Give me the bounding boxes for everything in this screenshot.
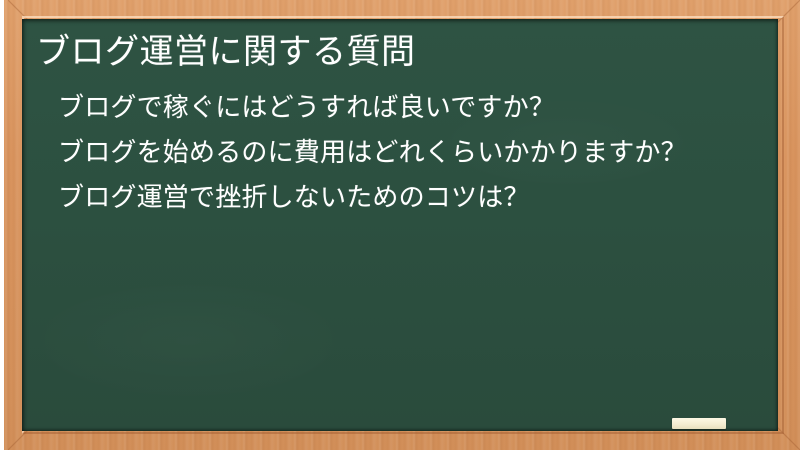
list-item: ブログ運営で挫折しないためのコツは？ (58, 177, 738, 218)
page-title: ブログ運営に関する質問 (36, 31, 760, 75)
list-item: ブログで稼ぐにはどうすれば良いですか？ (58, 87, 738, 128)
chalkboard-surface: ブログ運営に関する質問 ブログで稼ぐにはどうすれば良いですか？ ブログを始めるの… (22, 19, 778, 431)
chalk-stick-icon (672, 418, 726, 429)
chalkboard-slide: ブログ運営に関する質問 ブログで稼ぐにはどうすれば良いですか？ ブログを始めるの… (0, 0, 800, 450)
list-item: ブログを始めるのに費用はどれくらいかかりますか？ (58, 132, 738, 173)
chalkboard-content: ブログ運営に関する質問 ブログで稼ぐにはどうすれば良いですか？ ブログを始めるの… (22, 19, 778, 431)
question-list: ブログで稼ぐにはどうすれば良いですか？ ブログを始めるのに費用はどれくらいかかり… (36, 87, 760, 218)
